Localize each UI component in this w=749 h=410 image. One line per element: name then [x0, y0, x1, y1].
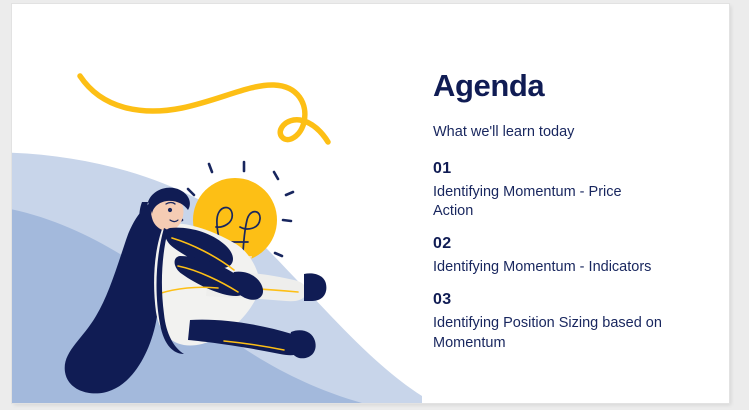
agenda-item-03: 03 Identifying Position Sizing based on …: [433, 290, 673, 352]
woman-hugging-lightbulb-illustration: [12, 4, 422, 403]
agenda-item-label: Identifying Momentum - Indicators: [433, 258, 663, 277]
slide-canvas: Agenda What we'll learn today 01 Identif…: [12, 4, 729, 403]
page-title: Agenda: [433, 70, 544, 103]
yellow-squiggle-line: [80, 76, 328, 142]
agenda-number: 03: [433, 290, 673, 310]
agenda-number: 01: [433, 159, 673, 179]
agenda-panel: Agenda What we'll learn today 01 Identif…: [420, 4, 729, 403]
agenda-item-01: 01 Identifying Momentum - Price Action: [433, 159, 673, 221]
agenda-item-02: 02 Identifying Momentum - Indicators: [433, 234, 673, 277]
agenda-number: 02: [433, 234, 673, 254]
agenda-list: 01 Identifying Momentum - Price Action 0…: [433, 159, 673, 353]
agenda-item-label: Identifying Position Sizing based on Mom…: [433, 314, 663, 352]
agenda-item-label: Identifying Momentum - Price Action: [433, 183, 663, 221]
upper-shoe: [304, 273, 326, 301]
slide-subtitle: What we'll learn today: [433, 124, 574, 141]
